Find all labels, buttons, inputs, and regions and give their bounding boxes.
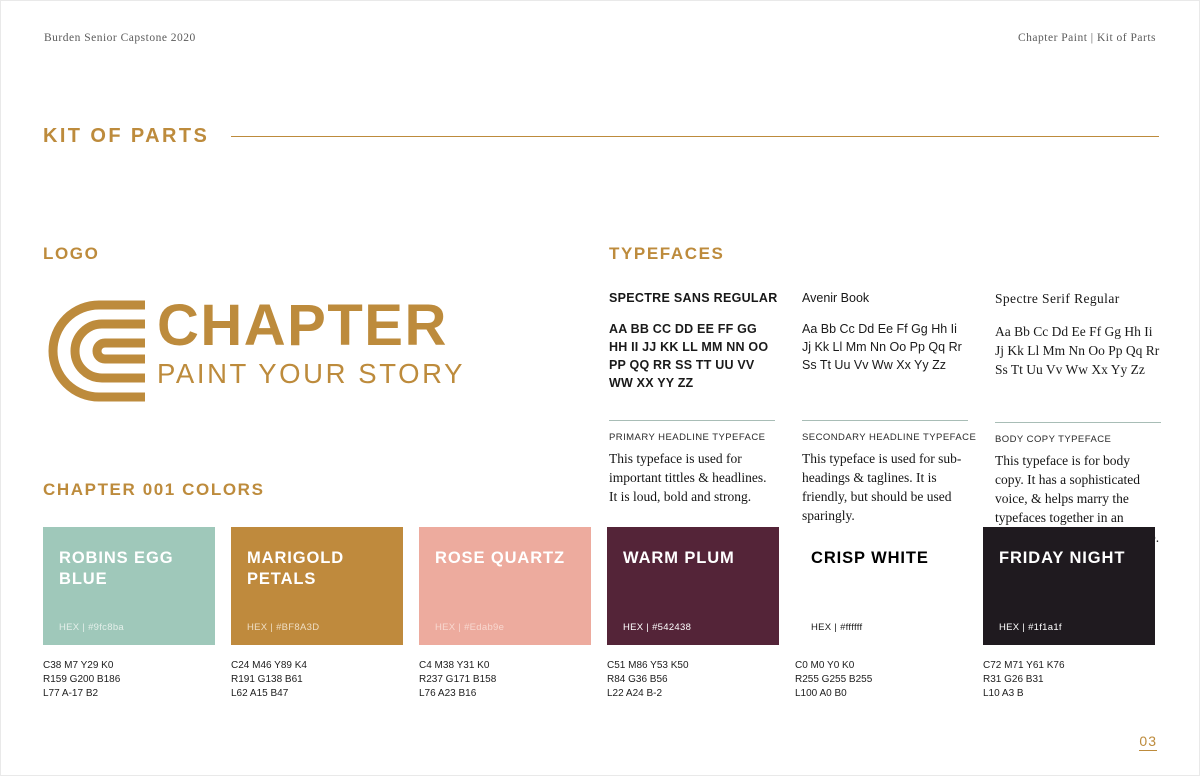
color-specs: C51 M86 Y53 K50 R84 G36 B56 L22 A24 B-2: [607, 659, 779, 702]
logo-wordmark: CHAPTER: [157, 299, 465, 354]
color-name: FRIDAY NIGHT: [999, 548, 1139, 569]
presentation-page: Burden Senior Capstone 2020 Chapter Pain…: [0, 0, 1200, 776]
page-number: 03: [1139, 734, 1157, 751]
logo-tagline: PAINT YOUR STORY: [157, 358, 465, 390]
title-divider-rule: [231, 136, 1159, 137]
color-swatch: ROBINS EGG BLUE HEX | #9fc8ba: [43, 527, 215, 645]
color-name: ROSE QUARTZ: [435, 548, 575, 569]
typeface-role-label: SECONDARY HEADLINE TYPEFACE: [802, 432, 968, 443]
color-swatch-cell: ROSE QUARTZ HEX | #Edab9e C4 M38 Y31 K0 …: [419, 527, 591, 702]
color-specs: C24 M46 Y89 K4 R191 G138 B61 L62 A15 B47: [231, 659, 403, 702]
color-swatch: WARM PLUM HEX | #542438: [607, 527, 779, 645]
section-title-row: KIT OF PARTS: [43, 125, 1159, 148]
color-swatch-cell: WARM PLUM HEX | #542438 C51 M86 Y53 K50 …: [607, 527, 779, 702]
logo-heading: LOGO: [43, 244, 583, 264]
typeface-alphabet-sample: Aa Bb Cc Dd Ee Ff Gg Hh Ii Jj Kk Ll Mm N…: [995, 322, 1161, 379]
color-hex-label: HEX | #542438: [623, 622, 691, 633]
color-swatch-cell: ROBINS EGG BLUE HEX | #9fc8ba C38 M7 Y29…: [43, 527, 215, 702]
running-head-left: Burden Senior Capstone 2020: [44, 32, 196, 44]
color-swatch-row: ROBINS EGG BLUE HEX | #9fc8ba C38 M7 Y29…: [43, 527, 1159, 702]
chapter-nested-c-mark: [43, 297, 151, 405]
typeface-alphabet-sample: Aa Bb Cc Dd Ee Ff Gg Hh Ii Jj Kk Ll Mm N…: [802, 320, 968, 374]
color-hex-label: HEX | #BF8A3D: [247, 622, 319, 633]
color-swatch-cell: CRISP WHITE HEX | #ffffff C0 M0 Y0 K0 R2…: [795, 527, 967, 702]
typeface-divider: [802, 420, 968, 421]
color-swatch: FRIDAY NIGHT HEX | #1f1a1f: [983, 527, 1155, 645]
color-specs: C38 M7 Y29 K0 R159 G200 B186 L77 A-17 B2: [43, 659, 215, 702]
logo-wordmark-group: CHAPTER PAINT YOUR STORY: [157, 293, 465, 390]
typeface-alphabet-sample: AA BB CC DD EE FF GG HH II JJ KK LL MM N…: [609, 320, 775, 393]
logo-lockup: CHAPTER PAINT YOUR STORY: [43, 293, 583, 405]
colors-heading: CHAPTER 001 COLORS: [43, 480, 1159, 500]
typeface-name: Spectre Serif Regular: [995, 291, 1161, 307]
colors-section: CHAPTER 001 COLORS ROBINS EGG BLUE HEX |…: [43, 480, 1159, 702]
color-hex-label: HEX | #1f1a1f: [999, 622, 1062, 633]
typeface-sample-box: Aa Bb Cc Dd Ee Ff Gg Hh Ii Jj Kk Ll Mm N…: [995, 322, 1161, 408]
typeface-sample-box: AA BB CC DD EE FF GG HH II JJ KK LL MM N…: [609, 320, 775, 406]
color-name: MARIGOLD PETALS: [247, 548, 387, 591]
color-hex-label: HEX | #ffffff: [811, 622, 862, 633]
typeface-divider: [609, 420, 775, 421]
color-specs: C72 M71 Y61 K76 R31 G26 B31 L10 A3 B: [983, 659, 1155, 702]
color-name: CRISP WHITE: [811, 548, 951, 569]
color-specs: C4 M38 Y31 K0 R237 G171 B158 L76 A23 B16: [419, 659, 591, 702]
running-head-right: Chapter Paint | Kit of Parts: [1018, 32, 1156, 44]
typeface-role-label: BODY COPY TYPEFACE: [995, 434, 1161, 445]
typefaces-heading: TYPEFACES: [609, 244, 1161, 264]
color-swatch: CRISP WHITE HEX | #ffffff: [795, 527, 967, 645]
color-swatch-cell: MARIGOLD PETALS HEX | #BF8A3D C24 M46 Y8…: [231, 527, 403, 702]
color-name: ROBINS EGG BLUE: [59, 548, 199, 591]
typeface-sample-box: Aa Bb Cc Dd Ee Ff Gg Hh Ii Jj Kk Ll Mm N…: [802, 320, 968, 406]
color-swatch: ROSE QUARTZ HEX | #Edab9e: [419, 527, 591, 645]
page-title: KIT OF PARTS: [43, 125, 209, 148]
typeface-name: Avenir Book: [802, 291, 968, 305]
typeface-divider: [995, 422, 1161, 423]
color-hex-label: HEX | #Edab9e: [435, 622, 504, 633]
logo-section: LOGO CHAPTER PAINT YOUR STORY: [43, 244, 583, 405]
color-swatch: MARIGOLD PETALS HEX | #BF8A3D: [231, 527, 403, 645]
typeface-name: SPECTRE SANS REGULAR: [609, 291, 775, 305]
color-swatch-cell: FRIDAY NIGHT HEX | #1f1a1f C72 M71 Y61 K…: [983, 527, 1155, 702]
color-specs: C0 M0 Y0 K0 R255 G255 B255 L100 A0 B0: [795, 659, 967, 702]
color-name: WARM PLUM: [623, 548, 763, 569]
color-hex-label: HEX | #9fc8ba: [59, 622, 124, 633]
typeface-role-label: PRIMARY HEADLINE TYPEFACE: [609, 432, 775, 443]
